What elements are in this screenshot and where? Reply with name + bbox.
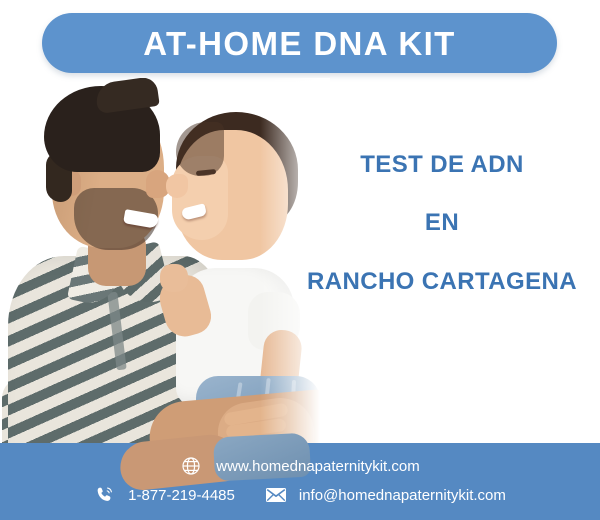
- footer-email-text[interactable]: info@homednapaternitykit.com: [299, 487, 506, 504]
- header-title: AT-HOME DNA KIT: [143, 27, 455, 60]
- headline-block: TEST DE ADN EN RANCHO CARTAGENA: [296, 152, 588, 295]
- footer-phone-item[interactable]: 1-877-219-4485: [94, 484, 235, 506]
- family-photo: [0, 78, 330, 478]
- headline-line-2: EN: [296, 210, 588, 236]
- footer-website-text[interactable]: www.homednapaternitykit.com: [216, 458, 419, 475]
- child-hair-fringe: [176, 122, 224, 176]
- phone-icon: [94, 484, 116, 506]
- globe-icon: [180, 455, 202, 477]
- footer-phone-text[interactable]: 1-877-219-4485: [128, 487, 235, 504]
- headline-line-3: RANCHO CARTAGENA: [296, 269, 588, 295]
- header-banner: AT-HOME DNA KIT: [42, 13, 557, 73]
- envelope-icon: [265, 484, 287, 506]
- footer-contact-row: 1-877-219-4485 info@homednapaternitykit.…: [0, 484, 600, 506]
- headline-line-1: TEST DE ADN: [296, 152, 588, 178]
- promo-banner: AT-HOME DNA KIT: [0, 0, 600, 520]
- child-hand: [160, 264, 188, 292]
- child-nose: [166, 174, 188, 198]
- footer-bar: www.homednapaternitykit.com 1-877-219-44…: [0, 443, 600, 520]
- footer-website-row: www.homednapaternitykit.com: [0, 455, 600, 477]
- footer-email-item[interactable]: info@homednapaternitykit.com: [265, 484, 506, 506]
